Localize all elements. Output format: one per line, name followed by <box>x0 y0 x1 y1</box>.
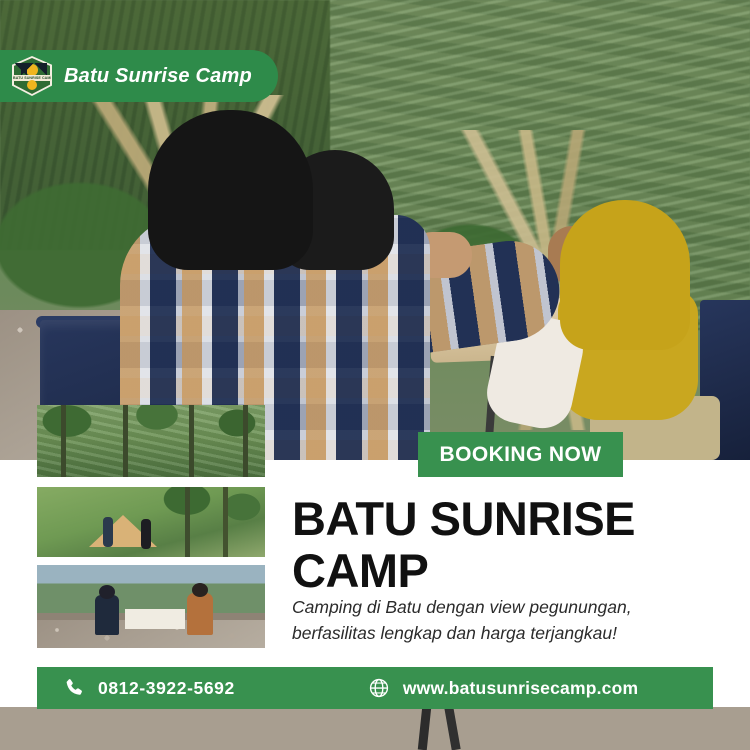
chair-leg <box>418 707 431 750</box>
tagline: Camping di Batu dengan view pegunungan, … <box>292 594 692 646</box>
contact-bar: 0812-3922-5692 www.batusunrisecamp.com <box>37 667 713 709</box>
mountain-sunrise-badge-icon: BATU SUNRISE CAMP <box>12 56 52 96</box>
booking-now-label: BOOKING NOW <box>440 443 602 467</box>
gravel-footer-photo <box>0 707 750 750</box>
tagline-line-2: berfasilitas lengkap dan harga terjangka… <box>292 620 692 646</box>
tagline-line-1: Camping di Batu dengan view pegunungan, <box>292 594 692 620</box>
child-yellow-hijab <box>560 200 690 350</box>
headline-line-1: BATU SUNRISE <box>292 493 712 545</box>
brand-name-label: Batu Sunrise Camp <box>64 65 252 88</box>
adult-black-hijab <box>148 110 313 270</box>
gallery-thumbnail-1[interactable] <box>37 405 265 477</box>
website-url: www.batusunrisecamp.com <box>403 678 638 699</box>
chair-leg-2 <box>444 707 460 750</box>
gallery-thumbnail-2[interactable] <box>37 487 265 557</box>
booking-now-button[interactable]: BOOKING NOW <box>418 432 623 477</box>
phone-number: 0812-3922-5692 <box>98 678 235 699</box>
page-title: BATU SUNRISE CAMP <box>292 493 712 597</box>
globe-icon <box>368 677 390 699</box>
phone-icon <box>63 677 85 699</box>
gallery-thumbnail-3[interactable] <box>37 565 265 648</box>
brand-banner[interactable]: BATU SUNRISE CAMP Batu Sunrise Camp <box>0 50 278 102</box>
phone-contact[interactable]: 0812-3922-5692 <box>63 677 235 699</box>
promotional-poster: BATU SUNRISE CAMP Batu Sunrise Camp BOOK… <box>0 0 750 750</box>
website-contact[interactable]: www.batusunrisecamp.com <box>368 677 638 699</box>
headline-line-2: CAMP <box>292 545 712 597</box>
